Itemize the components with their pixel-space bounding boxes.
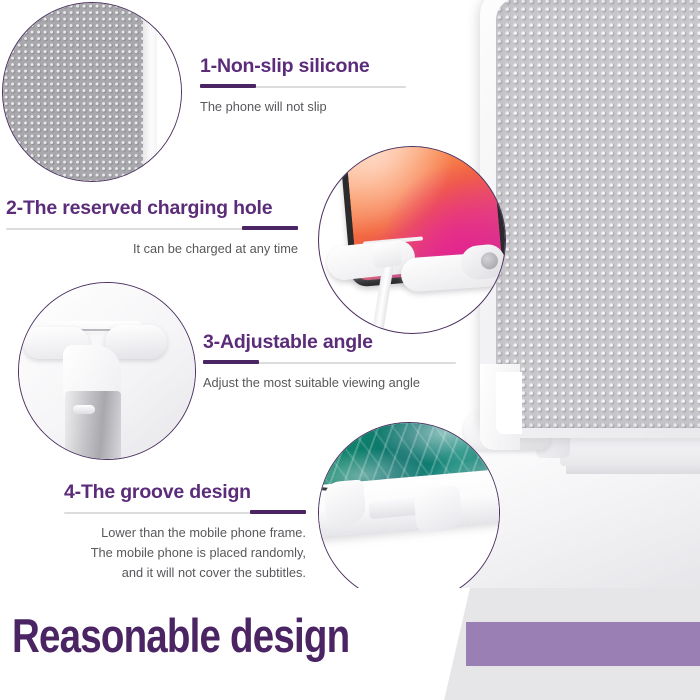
silicone-dot-texture <box>2 2 149 182</box>
feature-photo-non-slip-silicone <box>2 2 182 182</box>
feature-text-adjustable-angle: 3-Adjustable angle Adjust the most suita… <box>203 332 456 393</box>
rule-accent-segment <box>203 360 259 364</box>
feature-rule <box>203 360 456 364</box>
rule-accent-segment <box>250 510 306 514</box>
feature-text-groove-design: 4-The groove design Lower than the mobil… <box>64 482 306 583</box>
feature-body-line: The mobile phone is placed randomly, <box>64 543 306 563</box>
groove-lip-right <box>413 485 463 533</box>
panel-white-back <box>157 2 182 182</box>
infographic-canvas: 1-Non-slip silicone The phone will not s… <box>0 0 700 700</box>
feature-rule <box>64 510 306 514</box>
rule-accent-segment <box>242 226 298 230</box>
feature-body-line: and it will not cover the subtitles. <box>64 563 306 583</box>
feature-body-line: The phone will not slip <box>200 97 406 117</box>
feature-text-non-slip-silicone: 1-Non-slip silicone The phone will not s… <box>200 56 406 117</box>
feature-body-line: It can be charged at any time <box>6 239 298 259</box>
feature-body-line: Adjust the most suitable viewing angle <box>203 373 456 393</box>
feature-photo-reserved-charging-hole <box>318 146 506 334</box>
feature-rule <box>200 84 406 88</box>
feature-text-reserved-charging-hole: 2-The reserved charging hole It can be c… <box>6 198 298 259</box>
feature-body-line: Lower than the mobile phone frame. <box>64 523 306 543</box>
product-panel-notch-inner <box>496 372 522 434</box>
cap-screw-icon <box>480 251 499 270</box>
product-silicone-dot-texture <box>496 0 700 428</box>
banner-title: Reasonable design <box>12 612 349 659</box>
column-release-button <box>73 405 95 414</box>
charging-plug <box>372 242 402 269</box>
banner-accent-bar <box>466 622 700 666</box>
feature-heading: 1-Non-slip silicone <box>200 56 406 77</box>
feature-rule <box>6 226 298 230</box>
rule-accent-segment <box>200 84 256 88</box>
feature-photo-groove-design <box>318 422 500 604</box>
feature-heading: 3-Adjustable angle <box>203 332 456 353</box>
feature-photo-adjustable-angle <box>18 282 196 460</box>
feature-heading: 2-The reserved charging hole <box>6 198 298 219</box>
stand-column <box>65 391 121 460</box>
feature-heading: 4-The groove design <box>64 482 306 503</box>
